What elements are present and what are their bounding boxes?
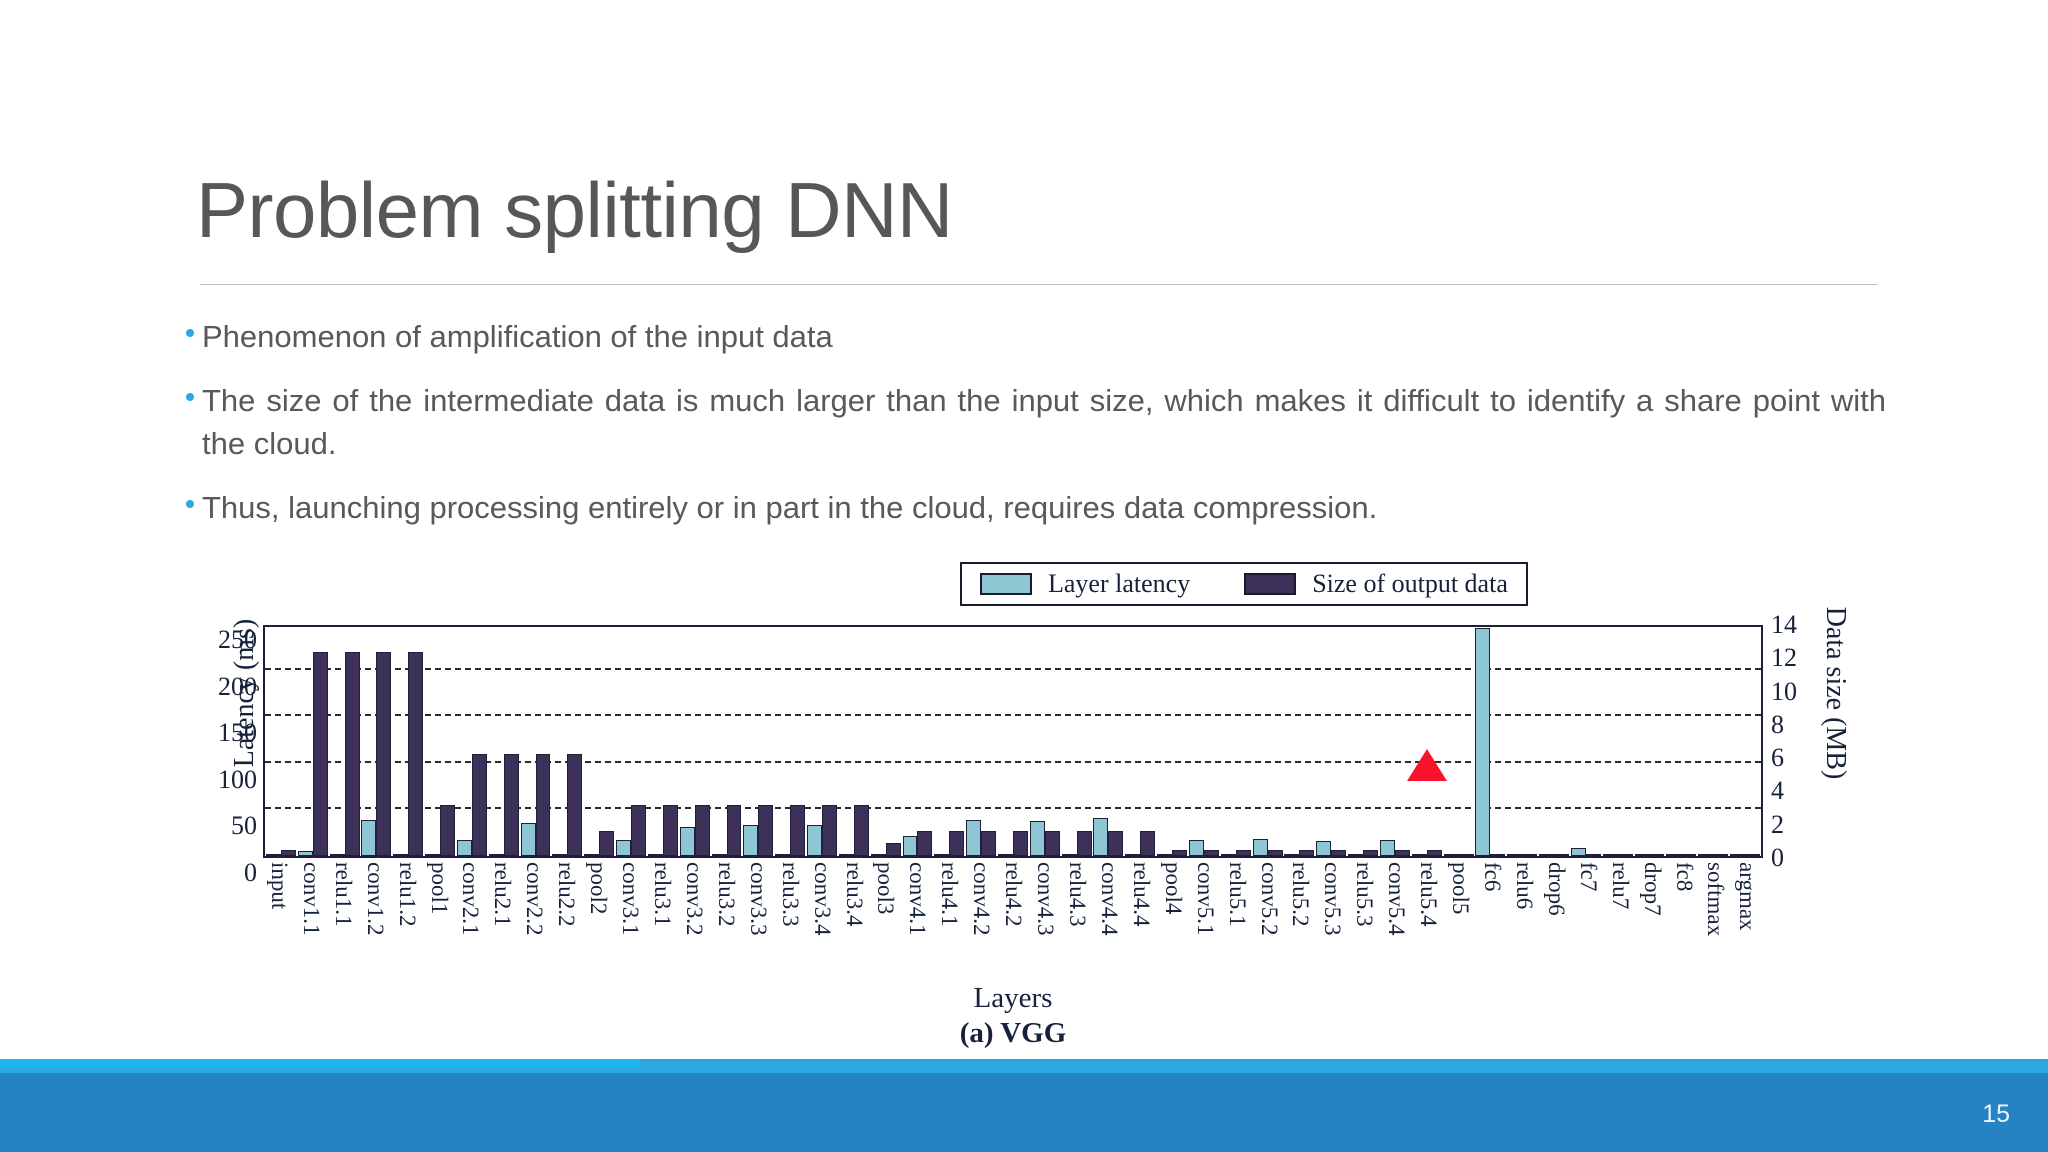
bar-group [1124,627,1156,856]
bar-group [1029,627,1061,856]
x-tick-cell: conv3.3 [742,860,774,978]
x-tick-cell: conv1.2 [359,860,391,978]
bar-output-size [663,805,678,856]
x-tick-label: fc7 [1575,862,1601,891]
bar-group [1506,627,1538,856]
legend-item-size: Size of output data [1244,569,1508,599]
legend-item-latency: Layer latency [980,569,1190,599]
bar-latency [1284,854,1299,856]
x-tick-label: conv3.4 [809,862,835,935]
x-tick-label: relu1.2 [394,862,420,927]
bar-output-size [408,652,423,856]
bar-output-size [1745,854,1760,856]
bar-group [1602,627,1634,856]
red-triangle-marker-icon [1407,749,1447,781]
bar-latency [1635,854,1650,856]
bar-output-size [949,831,964,856]
x-tick-cell: conv2.1 [455,860,487,978]
bullet-list: Phenomenon of amplification of the input… [186,316,1886,552]
figure-caption: (a) VGG [263,1017,1763,1050]
bar-group [392,627,424,856]
bar-latency [1157,854,1172,856]
y-tick-label-right: 2 [1771,810,1784,840]
x-tick-cell: input [263,860,295,978]
bar-output-size [1013,831,1028,856]
x-tick-cell: relu5.3 [1348,860,1380,978]
x-tick-cell: softmax [1699,860,1731,978]
bar-group [647,627,679,856]
x-tick-cell: conv2.2 [518,860,550,978]
x-tick-cell: conv4.4 [1093,860,1125,978]
x-tick-cell: conv4.3 [1029,860,1061,978]
bar-output-size [1268,850,1283,856]
bar-output-size [886,843,901,856]
bar-output-size [727,805,742,856]
bar-series-container [265,627,1761,856]
bar-output-size [695,805,710,856]
bar-output-size [1554,854,1569,856]
bar-group [1538,627,1570,856]
bar-group [456,627,488,856]
y-axis-ticks-right: 02468101214 [1771,625,1821,858]
bar-latency [1189,840,1204,856]
x-tick-cell: pool1 [423,860,455,978]
bar-latency [1316,841,1331,856]
bar-group [1443,627,1475,856]
bar-latency [998,854,1013,856]
bar-group [742,627,774,856]
chart-legend: Layer latency Size of output data [960,562,1528,606]
bar-output-size [1713,854,1728,856]
bar-group [902,627,934,856]
bar-group [806,627,838,856]
x-tick-cell: relu4.4 [1125,860,1157,978]
bar-group [329,627,361,856]
x-tick-label: relu1.1 [330,862,356,927]
bar-group [1665,627,1697,856]
x-tick-label: conv5.2 [1256,862,1282,935]
y-tick-label-right: 12 [1771,643,1797,673]
x-tick-label: conv4.4 [1096,862,1122,935]
y-tick-label-right: 14 [1771,610,1797,640]
bar-latency [1062,854,1077,856]
bar-group [1347,627,1379,856]
x-tick-cell: conv1.1 [295,860,327,978]
x-tick-cell: relu4.3 [1061,860,1093,978]
bar-output-size [567,754,582,856]
y-axis-title-right: Data size (MB) [1819,568,1851,818]
bar-latency [330,854,345,856]
x-tick-cell: relu3.2 [710,860,742,978]
bar-latency [298,851,313,856]
bar-group [1697,627,1729,856]
bar-group [360,627,392,856]
bar-group [297,627,329,856]
page-title: Problem splitting DNN [196,165,953,256]
bar-group [965,627,997,856]
footer-bar [0,1073,2048,1152]
bar-latency [1221,854,1236,856]
bar-latency [871,854,886,856]
x-tick-label: drop7 [1639,862,1665,916]
x-tick-cell: relu5.1 [1221,860,1253,978]
bar-latency [1380,840,1395,856]
legend-swatch-size [1244,573,1296,595]
x-tick-label: pool1 [426,862,452,914]
bar-output-size [1236,850,1251,856]
bullet-text: Phenomenon of amplification of the input… [202,319,833,354]
bar-latency [934,854,949,856]
bar-output-size [1522,854,1537,856]
bullet-dot-icon [186,393,194,401]
bar-group [615,627,647,856]
bar-output-size [1618,854,1633,856]
bar-latency [1539,854,1554,856]
y-tick-label-right: 8 [1771,710,1784,740]
bar-output-size [1363,850,1378,856]
x-tick-cell: pool4 [1157,860,1189,978]
x-tick-cell: relu4.2 [997,860,1029,978]
x-tick-label: relu4.4 [1128,862,1154,927]
x-tick-cell: relu7 [1604,860,1636,978]
slide-number: 15 [1982,1100,2010,1129]
legend-label-latency: Layer latency [1048,569,1190,599]
x-tick-cell: fc8 [1668,860,1700,978]
x-tick-label: relu5.2 [1287,862,1313,927]
x-tick-label: relu5.4 [1415,862,1441,927]
bar-output-size [790,805,805,856]
bar-latency [393,854,408,856]
x-tick-cell: conv5.3 [1316,860,1348,978]
bar-latency [1348,854,1363,856]
x-tick-cell: drop7 [1636,860,1668,978]
list-item: The size of the intermediate data is muc… [186,380,1886,465]
bar-output-size [599,831,614,856]
bar-latency [1125,854,1140,856]
footer-accent-bar-light [0,1059,640,1067]
bar-latency [648,854,663,856]
bar-output-size [822,805,837,856]
x-tick-cell: relu4.1 [933,860,965,978]
x-tick-label: conv4.1 [904,862,930,935]
slide: Problem splitting DNN Phenomenon of ampl… [0,0,2048,1152]
x-tick-label: relu4.2 [1000,862,1026,927]
bar-latency [1253,839,1268,856]
x-tick-cell: conv4.2 [965,860,997,978]
bar-group [679,627,711,856]
plot-area [263,625,1763,858]
bullet-text: The size of the intermediate data is muc… [202,380,1886,465]
bar-output-size [1395,850,1410,856]
bullet-dot-icon [186,500,194,508]
x-tick-label: relu3.2 [713,862,739,927]
y-tick-label-right: 0 [1771,843,1784,873]
bar-output-size [1331,850,1346,856]
x-tick-cell: relu1.1 [327,860,359,978]
bar-group [933,627,965,856]
bar-group [711,627,743,856]
bar-latency [1444,854,1459,856]
bar-output-size [981,831,996,856]
bar-output-size [917,831,932,856]
bar-group [1188,627,1220,856]
x-tick-cell: conv5.4 [1380,860,1412,978]
bar-group [1252,627,1284,856]
bar-output-size [440,805,455,856]
x-tick-label: conv3.1 [617,862,643,935]
bar-group [997,627,1029,856]
x-tick-cell: drop6 [1540,860,1572,978]
bar-output-size [376,652,391,856]
x-tick-cell: conv3.4 [806,860,838,978]
bar-latency [1571,848,1586,856]
bar-latency [1030,821,1045,856]
x-axis-title: Layers [263,982,1763,1015]
bar-group [1474,627,1506,856]
x-tick-cell: conv5.1 [1189,860,1221,978]
x-tick-label: pool4 [1160,862,1186,914]
x-tick-label: relu4.3 [1064,862,1090,927]
x-tick-label: conv2.1 [457,862,483,935]
bar-latency [489,854,504,856]
y-axis-ticks-left: 050100150200250 [203,625,257,858]
x-tick-label: fc6 [1479,862,1505,891]
bar-latency [1603,854,1618,856]
bar-latency [361,820,376,856]
y-tick-label-right: 10 [1771,677,1797,707]
x-tick-label: relu3.1 [649,862,675,927]
x-tick-label: conv5.1 [1192,862,1218,935]
x-tick-label: relu2.2 [553,862,579,927]
bar-output-size [504,754,519,856]
x-tick-label: conv2.2 [521,862,547,935]
bar-output-size [631,805,646,856]
bar-group [1220,627,1252,856]
bar-group [583,627,615,856]
x-tick-cell: relu3.1 [646,860,678,978]
x-tick-cell: argmax [1731,860,1763,978]
bar-latency [775,854,790,856]
bar-group [1411,627,1443,856]
bar-latency [807,825,822,856]
x-tick-label: conv4.2 [968,862,994,935]
x-tick-cell: relu2.2 [550,860,582,978]
x-tick-label: drop6 [1543,862,1569,916]
x-tick-label: relu4.1 [936,862,962,927]
bar-latency [616,840,631,856]
chart-figure: Layer latency Size of output data Latenc… [170,562,1960,1062]
bar-latency [584,854,599,856]
bar-output-size [1172,850,1187,856]
bar-latency [1412,854,1427,856]
bar-output-size [1427,850,1442,856]
x-tick-label: pool2 [585,862,611,914]
bar-latency [1698,854,1713,856]
x-tick-label: relu5.1 [1224,862,1250,927]
bullet-dot-icon [186,329,194,337]
bar-output-size [1204,850,1219,856]
x-tick-label: relu5.3 [1351,862,1377,927]
x-tick-cell: relu5.4 [1412,860,1444,978]
bar-latency [1093,818,1108,856]
bar-latency [1507,854,1522,856]
bar-output-size [758,805,773,856]
bar-output-size [1459,854,1474,856]
bar-group [1634,627,1666,856]
x-tick-cell: fc7 [1572,860,1604,978]
bar-group [488,627,520,856]
bar-latency [743,825,758,856]
x-tick-label: conv5.3 [1319,862,1345,935]
x-tick-cell: fc6 [1476,860,1508,978]
bar-group [1570,627,1602,856]
bar-latency [839,854,854,856]
bar-latency [552,854,567,856]
y-tick-label-right: 6 [1771,743,1784,773]
x-tick-cell: relu6 [1508,860,1540,978]
bar-output-size [536,754,551,856]
x-tick-label: argmax [1734,862,1760,931]
bullet-text: Thus, launching processing entirely or i… [202,490,1377,525]
x-tick-cell: conv3.2 [678,860,710,978]
x-tick-label: conv5.4 [1383,862,1409,935]
list-item: Thus, launching processing entirely or i… [186,487,1886,529]
bar-group [1315,627,1347,856]
x-tick-label: conv3.3 [745,862,771,935]
bar-latency [457,840,472,856]
bar-latency [521,823,536,856]
bar-output-size [313,652,328,856]
bar-latency [680,827,695,856]
x-tick-cell: relu3.4 [838,860,870,978]
x-tick-label: relu2.1 [489,862,515,927]
x-tick-label: conv3.2 [681,862,707,935]
bar-group [1093,627,1125,856]
bar-group [1379,627,1411,856]
bar-group [1156,627,1188,856]
bar-group [1061,627,1093,856]
x-tick-cell: conv4.1 [901,860,933,978]
y-tick-label-right: 4 [1771,776,1784,806]
bar-latency [903,836,918,857]
bar-latency [266,854,281,856]
legend-label-size: Size of output data [1312,569,1508,599]
bar-group [424,627,456,856]
x-tick-cell: conv3.1 [614,860,646,978]
bar-latency [425,854,440,856]
x-axis-tick-labels: inputconv1.1relu1.1conv1.2relu1.2pool1co… [263,860,1763,978]
x-tick-label: softmax [1702,862,1728,936]
x-tick-label: pool3 [872,862,898,914]
x-tick-label: input [266,862,292,909]
bar-latency [966,820,981,856]
bar-latency [1730,854,1745,856]
bar-output-size [1586,854,1601,856]
bar-output-size [281,850,296,856]
bar-group [1284,627,1316,856]
bar-output-size [1140,831,1155,856]
bar-output-size [1490,854,1505,856]
x-tick-label: relu7 [1607,862,1633,909]
bar-group [551,627,583,856]
bar-output-size [1650,854,1665,856]
x-tick-cell: relu3.3 [774,860,806,978]
bar-output-size [1681,854,1696,856]
legend-swatch-latency [980,573,1032,595]
bar-group [774,627,806,856]
x-tick-label: relu3.4 [841,862,867,927]
x-tick-label: conv1.1 [298,862,324,935]
bar-output-size [1077,831,1092,856]
title-divider [200,284,1878,285]
bar-group [520,627,552,856]
x-tick-label: fc8 [1671,862,1697,891]
x-tick-cell: pool3 [870,860,902,978]
bar-output-size [854,805,869,856]
x-tick-label: conv4.3 [1032,862,1058,935]
x-tick-label: pool5 [1447,862,1473,914]
bar-output-size [472,754,487,856]
bar-group [265,627,297,856]
x-tick-label: conv1.2 [362,862,388,935]
x-tick-label: relu6 [1511,862,1537,909]
bar-latency [1475,628,1490,856]
x-tick-cell: pool5 [1444,860,1476,978]
bar-latency [712,854,727,856]
bar-output-size [1108,831,1123,856]
list-item: Phenomenon of amplification of the input… [186,316,1886,358]
x-tick-cell: conv5.2 [1253,860,1285,978]
bar-output-size [1299,850,1314,856]
x-tick-cell: relu5.2 [1285,860,1317,978]
bar-group [1729,627,1761,856]
bar-output-size [1045,831,1060,856]
bar-group [838,627,870,856]
bar-latency [1666,854,1681,856]
x-tick-label: relu3.3 [777,862,803,927]
x-tick-cell: pool2 [582,860,614,978]
x-tick-cell: relu1.2 [391,860,423,978]
bar-group [870,627,902,856]
x-tick-cell: relu2.1 [486,860,518,978]
bar-output-size [345,652,360,856]
